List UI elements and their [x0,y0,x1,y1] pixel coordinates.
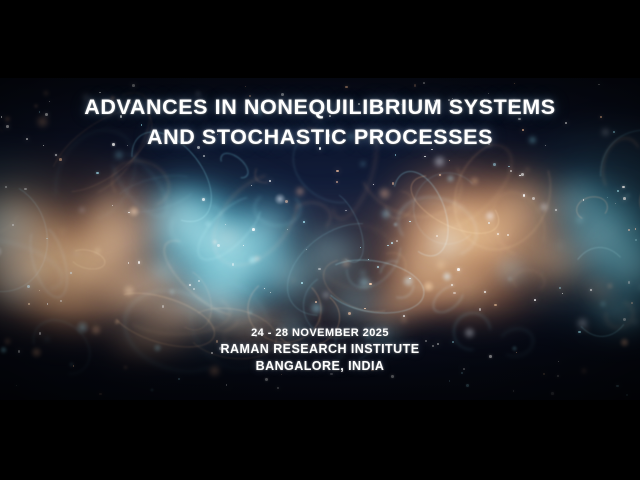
video-frame: ADVANCES IN NONEQUILIBRIUM SYSTEMS AND S… [0,0,640,480]
poster-artwork: ADVANCES IN NONEQUILIBRIUM SYSTEMS AND S… [0,78,640,400]
letterbox-bar-top [0,0,640,78]
letterbox-bar-bottom [0,400,640,480]
smoke-plasma-layer [0,78,640,400]
